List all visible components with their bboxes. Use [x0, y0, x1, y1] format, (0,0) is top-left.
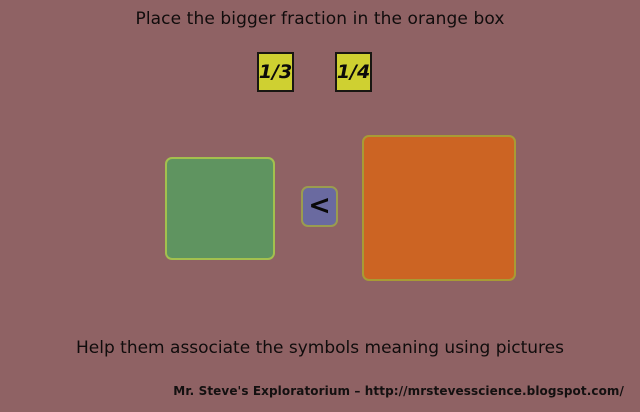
comparison-operator-chip[interactable]: <	[301, 186, 338, 227]
fraction-tile-one-fourth[interactable]: 1/4	[335, 52, 372, 92]
footer-credit: Mr. Steve's Exploratorium – http://mrste…	[173, 384, 624, 398]
fraction-tile-one-third[interactable]: 1/3	[257, 52, 294, 92]
green-answer-box[interactable]	[165, 157, 275, 260]
activity-canvas: Place the bigger fraction in the orange …	[0, 0, 640, 412]
less-than-icon: <	[308, 192, 331, 219]
orange-answer-box[interactable]	[362, 135, 516, 281]
instruction-caption: Help them associate the symbols meaning …	[0, 338, 640, 358]
page-title: Place the bigger fraction in the orange …	[0, 9, 640, 29]
